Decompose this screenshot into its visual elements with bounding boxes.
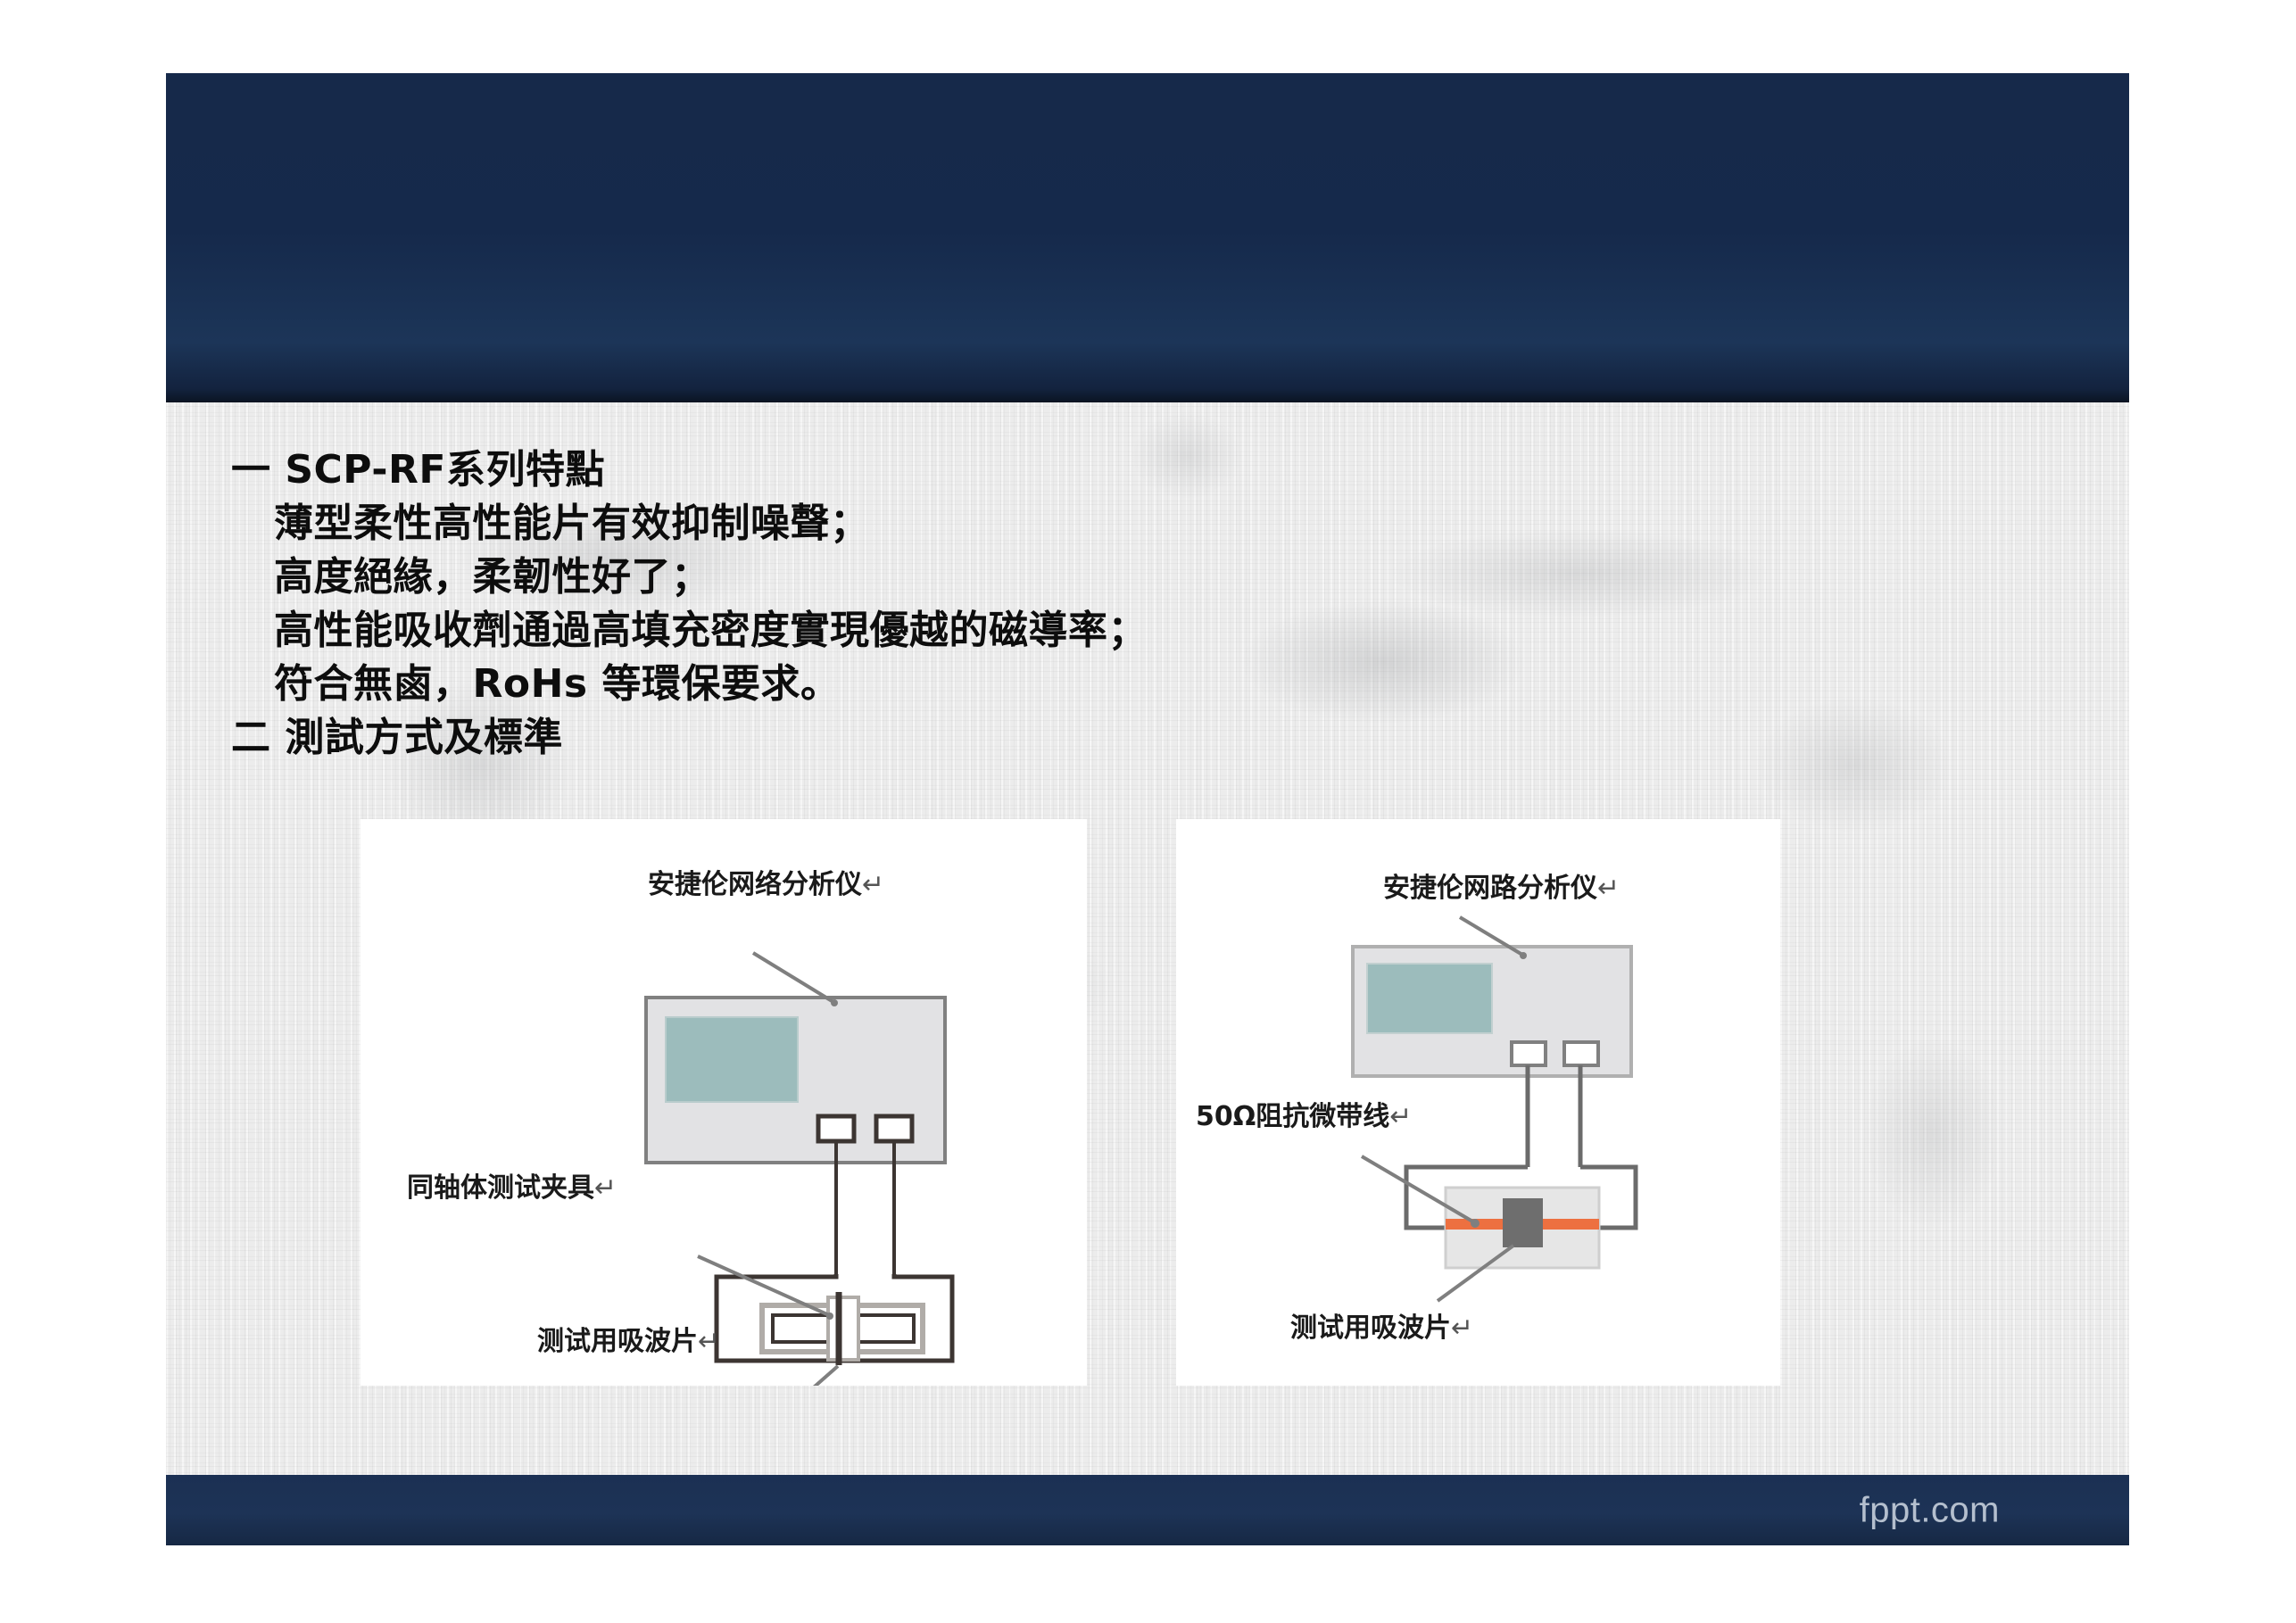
analyzer-port-1: [818, 1116, 854, 1141]
caption-fixture-left-text: 同轴体测试夹具: [407, 1172, 594, 1204]
body-line-1: 一 SCP-RF系列特點: [231, 443, 1837, 497]
leader-fixture-dot: [826, 1312, 833, 1320]
cr-mark-icon: ↵: [1389, 1101, 1412, 1132]
cr-mark-icon: ↵: [862, 869, 884, 900]
caption-microstrip-text: 50Ω阻抗微带线: [1196, 1101, 1389, 1132]
analyzer-screen: [1367, 964, 1492, 1033]
sample-holder-collar: [828, 1297, 858, 1360]
caption-sample-right-text: 测试用吸波片: [1290, 1312, 1451, 1344]
cr-mark-icon: ↵: [698, 1326, 720, 1357]
cr-mark-icon: ↵: [1451, 1312, 1473, 1344]
leader-sample: [778, 1366, 838, 1386]
caption-sample-left-text: 测试用吸波片: [537, 1326, 698, 1357]
leader-analyzer: [753, 953, 833, 1002]
body-line-3: 高度絕緣，柔韌性好了；: [231, 551, 1837, 604]
analyzer-port-1: [1512, 1042, 1546, 1065]
caption-fixture-left: 同轴体测试夹具↵: [407, 1165, 617, 1205]
caption-microstrip: 50Ω阻抗微带线↵: [1196, 1094, 1412, 1133]
footer-brand-label: fppt.com: [1860, 1490, 2000, 1530]
analyzer-port-2: [876, 1116, 912, 1141]
caption-analyzer-left-text: 安捷伦网络分析仪: [648, 869, 862, 900]
body-line-4: 高性能吸收劑通過高填充密度實現優越的磁導率；: [231, 604, 1837, 658]
leader-microstrip-dot: [1471, 1219, 1480, 1228]
caption-analyzer-right: 安捷伦网路分析仪↵: [1383, 865, 1620, 905]
body-line-2: 薄型柔性高性能片有效抑制噪聲；: [231, 497, 1837, 551]
body-line-5: 符合無鹵，RoHs 等環保要求。: [231, 658, 1837, 711]
caption-sample-right: 测试用吸波片↵: [1290, 1305, 1473, 1345]
coaxial-diagram-svg: [361, 819, 1087, 1386]
caption-analyzer-left: 安捷伦网络分析仪↵: [648, 862, 884, 901]
caption-sample-left: 测试用吸波片↵: [537, 1319, 720, 1358]
figure-coaxial-test-setup: 安捷伦网络分析仪↵ 同轴体测试夹具↵ 测试用吸波片↵: [361, 819, 1087, 1386]
absorber-sample-chip: [1503, 1198, 1543, 1247]
analyzer-screen: [666, 1017, 798, 1102]
analyzer-port-2: [1564, 1042, 1598, 1065]
caption-analyzer-right-text: 安捷伦网路分析仪: [1383, 873, 1597, 904]
body-line-6: 二 測試方式及標準: [231, 711, 1837, 765]
slide-header-banner: [166, 73, 2129, 402]
slide-body-text: 一 SCP-RF系列特點 薄型柔性高性能片有效抑制噪聲； 高度絕緣，柔韌性好了；…: [231, 443, 1837, 765]
figure-microstrip-test-setup: 安捷伦网路分析仪↵ 50Ω阻抗微带线↵ 测试用吸波片↵: [1176, 819, 1780, 1386]
leader-analyzer-dot: [1520, 952, 1527, 959]
slide-canvas: 一 SCP-RF系列特點 薄型柔性高性能片有效抑制噪聲； 高度絕緣，柔韌性好了；…: [166, 73, 2129, 1545]
slide-footer-banner: fppt.com: [166, 1475, 2129, 1545]
leader-analyzer-dot: [831, 999, 838, 1006]
cr-mark-icon: ↵: [594, 1172, 617, 1204]
cr-mark-icon: ↵: [1597, 873, 1620, 904]
